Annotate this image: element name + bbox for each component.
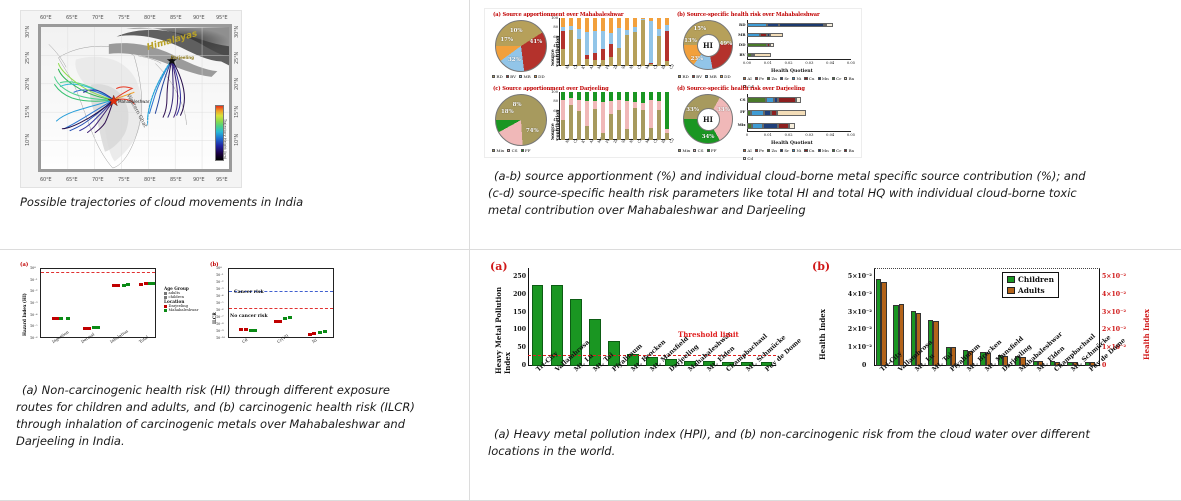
stack-segment <box>633 108 638 140</box>
map-plot-frame: Himalayas Darjeeling Mahabaleshwar Weste… <box>38 24 232 172</box>
stacked-column <box>561 18 566 66</box>
stack-segment <box>601 31 606 49</box>
stack-segment <box>617 18 622 28</box>
stack-segment <box>633 32 638 66</box>
legend-item: Al <box>743 148 752 153</box>
y-tick: 10⁻⁵ <box>30 324 37 328</box>
lon-tick: 60°E <box>40 15 51 21</box>
y-tick: 10⁻⁸ <box>216 322 223 326</box>
pie-slice-label: 18% <box>501 109 514 115</box>
y-tick: 10⁰ <box>30 266 36 270</box>
lon-tick: 65°E <box>66 15 77 21</box>
hpi-figure: (a) Heavy Metal Pollution Index 05010015… <box>482 258 1172 418</box>
stacked-column <box>593 18 598 66</box>
caption-scatter-1: (a) Non-carcinogenic health risk (HI) th… <box>16 382 449 399</box>
stack-segment <box>609 101 614 114</box>
stack-segment <box>609 57 614 66</box>
stack-segment <box>657 18 662 29</box>
stack-segment <box>609 114 614 140</box>
stack-segment <box>633 102 638 109</box>
legend-label: Ni <box>796 148 801 153</box>
scatter-b-plot <box>228 268 334 338</box>
legend-label: BV <box>510 74 516 79</box>
caption-scatter-2: routes for children and adults, and (b) … <box>16 399 449 416</box>
legend-item: CS <box>693 148 703 153</box>
legend-swatch <box>844 77 847 80</box>
y-tick: 80 <box>553 25 558 29</box>
x-tick: 0 <box>746 133 748 137</box>
lon-tick: 90°E <box>193 15 204 21</box>
legend-swatch <box>1007 276 1015 283</box>
stack-segment <box>625 101 630 130</box>
bar-category-label: FF <box>740 109 745 114</box>
legend-swatch <box>164 305 167 308</box>
panel-b-title: (b) Source-specific health risk over Mah… <box>677 12 820 18</box>
lat-tick: 30°N <box>234 26 240 38</box>
hpi-a-ylabel: Heavy Metal Pollution Index <box>494 266 512 374</box>
stack-segment <box>657 92 662 101</box>
stack-segment <box>577 100 582 111</box>
caption-source-apportionment-1: (a-b) source apportionment (%) and indiv… <box>488 168 1159 185</box>
lat-tick: 15°N <box>25 106 31 118</box>
legend-item: RD <box>492 74 503 79</box>
legend-swatch <box>755 149 758 152</box>
stack-segment <box>609 33 614 44</box>
stacked-column <box>601 92 606 140</box>
y-tick: 0 <box>506 362 526 369</box>
legend-swatch <box>743 77 746 80</box>
legend-item: Mix <box>492 148 504 153</box>
legend-label: CS <box>698 148 704 153</box>
y-tick: 250 <box>506 273 526 280</box>
y-tick: 150 <box>506 309 526 316</box>
y-tick: 100 <box>551 90 558 94</box>
y-tick: 50 <box>506 344 526 351</box>
legend-label: CS <box>512 148 518 153</box>
data-point <box>96 326 100 329</box>
legend-swatch <box>692 75 695 78</box>
stack-segment <box>617 92 622 100</box>
stack-segment <box>601 102 606 134</box>
stack-segment <box>569 105 574 140</box>
legend-label: MR <box>523 74 530 79</box>
stacked-column <box>625 92 630 140</box>
x-tick: 0.04 <box>826 61 834 65</box>
legend-item: BV <box>506 74 516 79</box>
legend-label: Al <box>747 148 751 153</box>
legend-label: DD <box>724 74 731 79</box>
legend-item: FF <box>521 148 531 153</box>
health-quotient-bar <box>747 110 806 116</box>
y-tick: 0 <box>556 64 558 68</box>
legend-label: Cr <box>836 76 841 81</box>
stack-segment <box>593 18 598 30</box>
bar-segment <box>764 110 771 116</box>
panel-d-xlabel: Health Quotient <box>771 141 813 146</box>
legend-item: Children <box>1007 275 1054 284</box>
legend-item: Zn <box>767 148 777 153</box>
legend-item: Cr <box>832 76 841 81</box>
y-tick: 40 <box>553 44 558 48</box>
stacked-column <box>633 92 638 140</box>
caption-source-apportionment-2: (c-d) source-specific health risk parame… <box>488 185 1159 202</box>
legend-label: RD <box>682 74 688 79</box>
legend-swatch <box>1007 287 1015 294</box>
threshold-line <box>41 272 155 273</box>
stacked-column <box>649 92 654 140</box>
stack-segment <box>577 18 582 29</box>
legend-item: Sr <box>780 148 789 153</box>
y-tick: 60 <box>553 35 558 39</box>
stack-segment <box>569 98 574 106</box>
figure-cell-trajectory-map: Himalayas Darjeeling Mahabaleshwar Weste… <box>0 0 470 250</box>
x-tick: 0.02 <box>785 133 793 137</box>
data-point <box>116 284 120 287</box>
stacked-column <box>625 18 630 66</box>
legend-item: RD <box>678 74 689 79</box>
legend-label: Zn <box>771 76 776 81</box>
lat-tick: 30°N <box>25 26 31 38</box>
legend-panel-b: RDBVMRDD <box>678 74 738 79</box>
stack-segment <box>617 100 622 111</box>
legend-label: MR <box>709 74 716 79</box>
stack-segment <box>665 133 670 140</box>
pie-slice-label: 17% <box>500 37 513 43</box>
legend-label: Ni <box>796 76 801 81</box>
y-tick-right: 4×10⁻² <box>1102 291 1126 298</box>
legend-item: Cu <box>804 76 814 81</box>
panel-a: (a) Source apportionment over Mahabalesh… <box>489 12 675 84</box>
legend-swatch <box>519 75 522 78</box>
legend-swatch <box>780 149 783 152</box>
legend-label: BV <box>696 74 702 79</box>
lat-tick: 25°N <box>234 52 240 64</box>
y-tick: 100 <box>551 16 558 20</box>
stacked-column <box>649 18 654 66</box>
lon-tick: 60°E <box>40 177 51 183</box>
legend-item: Mahabaleshwar <box>164 308 208 312</box>
hpi-b-ylabel: Health Index <box>818 276 827 360</box>
data-point <box>59 317 63 320</box>
legend-swatch <box>678 149 681 152</box>
legend-swatch <box>521 149 524 152</box>
stacked-column <box>657 18 662 66</box>
figure-grid: Himalayas Darjeeling Mahabaleshwar Weste… <box>0 0 1181 501</box>
stack-segment <box>609 92 614 101</box>
legend-label: FF <box>711 148 717 153</box>
y-tick: 20 <box>553 54 558 58</box>
legend-label: Fe <box>759 148 764 153</box>
data-point <box>278 320 282 323</box>
legend-label: Cr <box>836 148 841 153</box>
legend-panel-a: RDBVMRDD <box>492 74 554 79</box>
data-point <box>112 284 116 287</box>
legend-swatch <box>818 77 821 80</box>
bar-segment <box>826 23 833 28</box>
stack-segment <box>665 61 670 66</box>
legend-swatch <box>804 149 807 152</box>
x-tick: 0.01 <box>764 61 772 65</box>
legend-swatch <box>844 149 847 152</box>
trajectory-map-figure: Himalayas Darjeeling Mahabaleshwar Weste… <box>20 10 242 188</box>
legend-label: Mix <box>682 148 690 153</box>
legend-label: Cu <box>809 76 815 81</box>
source-apportionment-figure: (a) Source apportionment over Mahabalesh… <box>484 8 862 158</box>
figure-cell-health-risk-scatter: (a) Hazard Index (HI) 10⁻⁶10⁻⁵10⁻⁴10⁻³10… <box>0 250 470 501</box>
bar-segment <box>760 33 767 38</box>
legend-label: Mix <box>496 148 504 153</box>
y-tick: 10⁻⁴ <box>216 294 223 298</box>
bar-segment <box>766 97 774 103</box>
legend-swatch <box>832 77 835 80</box>
stack-segment <box>617 28 622 48</box>
legend-label: Zn <box>771 148 776 153</box>
hpi-a-threshold-label: Threshold limit <box>678 330 739 339</box>
stacked-column <box>577 18 582 66</box>
legend-swatch <box>767 149 770 152</box>
bar-segment <box>796 97 801 103</box>
legend-item: DD <box>720 74 731 79</box>
stack-segment <box>665 18 670 25</box>
stack-segment <box>617 110 622 140</box>
legend-item: Cd <box>743 156 753 161</box>
stack-segment <box>641 92 646 103</box>
caption-source-apportionment-3: metal contribution over Mahabaleshwar an… <box>488 202 1159 219</box>
stack-segment <box>593 101 598 110</box>
pie-slice-label: 10% <box>510 28 523 34</box>
y-tick: 10⁻¹⁰ <box>216 336 225 340</box>
legend-label: FF <box>525 148 531 153</box>
legend-item: Cr <box>832 148 841 153</box>
pie-slice-label: 8% <box>513 102 522 108</box>
health-quotient-bar <box>747 43 774 48</box>
hpi-b-index: (b) <box>812 260 830 273</box>
stack-segment <box>585 32 590 55</box>
stacked-column <box>665 18 670 66</box>
health-quotient-bar <box>747 53 771 58</box>
legend-swatch <box>707 149 710 152</box>
stack-segment <box>593 60 598 66</box>
scatter-a-legend: Age GroupadultschildrenLocationDarjeelin… <box>164 286 208 312</box>
y-tick: 10⁻² <box>30 289 37 293</box>
pie-slice-label: 13% <box>684 38 697 44</box>
legend-swatch <box>164 309 167 312</box>
legend-swatch <box>804 77 807 80</box>
data-point <box>66 317 70 320</box>
stack-segment <box>609 44 614 57</box>
stack-segment <box>561 100 566 120</box>
scatter-b-note-nocancer: No cancer risk <box>230 314 268 319</box>
stack-segment <box>593 31 598 53</box>
panel-c-pie: 74%18%8% <box>495 94 547 146</box>
y-tick: 5×10⁻² <box>840 273 872 280</box>
data-point <box>283 317 287 320</box>
donut-center-label: HI <box>697 108 720 131</box>
stacked-column <box>601 18 606 66</box>
bar-segment <box>752 123 763 129</box>
stack-segment <box>585 59 590 66</box>
hbars-darjeeling: MixFFCS00.010.020.030.040.05 <box>747 94 851 132</box>
scatter-a-plot <box>40 268 156 338</box>
stack-segment <box>601 60 606 66</box>
y-tick: 10⁻⁵ <box>216 301 223 305</box>
legend-item: CS <box>507 148 517 153</box>
legend-label: RD <box>496 74 502 79</box>
legend-label: Mn <box>822 148 829 153</box>
bar-segment <box>770 43 774 48</box>
lat-tick: 20°N <box>234 78 240 90</box>
stacked-columns-mahabaleshwar: 020406080100NaCaKAlMgFeZnSrNiCuMnCrBaCd <box>559 18 671 66</box>
map-annotation-darjeeling: Darjeeling <box>171 55 194 60</box>
lon-tick: 95°E <box>216 15 227 21</box>
legend-label: Fe <box>759 76 764 81</box>
bar-segment <box>751 110 764 116</box>
legend-swatch <box>534 75 537 78</box>
lat-tick: 25°N <box>25 52 31 64</box>
data-point <box>139 283 143 286</box>
health-risk-scatter-figure: (a) Hazard Index (HI) 10⁻⁶10⁻⁵10⁻⁴10⁻³10… <box>14 260 354 360</box>
lon-tick: 70°E <box>92 15 103 21</box>
stack-segment <box>601 18 606 30</box>
figure-cell-hpi: (a) Heavy Metal Pollution Index 05010015… <box>470 250 1181 501</box>
legend-label: Sr <box>784 76 789 81</box>
stack-segment <box>649 100 654 128</box>
x-tick: 0.05 <box>847 61 855 65</box>
stack-segment <box>585 18 590 32</box>
lat-tick: 15°N <box>234 106 240 118</box>
bar-segment <box>767 23 780 28</box>
y-tick: 60 <box>553 109 558 113</box>
legend-item: Zn <box>767 76 777 81</box>
y-tick: 1×10⁻² <box>840 344 872 351</box>
lon-tick: 80°E <box>144 177 155 183</box>
y-tick: 10⁻⁹ <box>216 329 223 333</box>
bar-segment <box>754 53 771 58</box>
stack-segment <box>561 18 566 27</box>
bar-segment <box>747 23 767 28</box>
health-index-bar <box>881 282 886 366</box>
stack-segment <box>593 53 598 61</box>
data-point <box>253 329 257 332</box>
y-tick: 2×10⁻² <box>840 326 872 333</box>
y-tick: 10⁻¹ <box>30 278 37 282</box>
panel-a-pie: 41%32%17%10% <box>495 20 547 72</box>
bar-segment <box>747 43 767 48</box>
bar-segment <box>763 123 778 129</box>
stack-segment <box>601 92 606 102</box>
bar-segment <box>777 110 806 116</box>
y-tick: 200 <box>506 291 526 298</box>
top-gridline <box>874 268 1100 269</box>
health-quotient-bar <box>747 97 801 103</box>
legend-item: Fe <box>755 76 764 81</box>
figure-cell-source-apportionment: (a) Source apportionment over Mahabalesh… <box>470 0 1181 250</box>
data-point <box>288 316 292 319</box>
y-tick: 100 <box>506 326 526 333</box>
stacked-column <box>593 92 598 140</box>
stacked-column <box>609 92 614 140</box>
y-tick: 10⁻⁶ <box>216 308 223 312</box>
x-tick-label: Cd <box>669 137 675 143</box>
legend-label: Ba <box>849 76 854 81</box>
legend-panel-d: MixCSFF <box>678 148 738 153</box>
panel-b: (b) Source-specific health risk over Mah… <box>675 12 861 84</box>
legend-label: Children <box>1018 275 1054 284</box>
stacked-column <box>585 92 590 140</box>
stacked-column <box>561 92 566 140</box>
lon-tick: 65°E <box>66 177 77 183</box>
legend-swatch <box>792 77 795 80</box>
lon-tick: 75°E <box>118 15 129 21</box>
x-tick: 0.03 <box>805 61 813 65</box>
bar-segment <box>778 97 797 103</box>
metal-legend-panel-d: AlFeZnSrNiCuMnCrBaCd <box>743 148 855 161</box>
legend-swatch <box>164 292 167 295</box>
stack-segment <box>625 35 630 66</box>
legend-swatch <box>818 149 821 152</box>
stack-segment <box>657 36 662 66</box>
stack-segment <box>577 39 582 66</box>
y-tick: 0 <box>556 138 558 142</box>
data-point <box>323 330 327 333</box>
stack-segment <box>577 92 582 100</box>
y-tick: 10⁻⁶ <box>30 336 37 340</box>
legend-item: Ba <box>844 76 854 81</box>
lon-tick: 75°E <box>118 177 129 183</box>
x-tick: 0.03 <box>805 133 813 137</box>
legend-swatch <box>780 77 783 80</box>
data-point <box>249 329 253 332</box>
y-tick: 80 <box>553 99 558 103</box>
legend-swatch <box>492 149 495 152</box>
legend-item: Al <box>743 76 752 81</box>
stacked-column <box>609 18 614 66</box>
legend-label: Mn <box>822 76 829 81</box>
scatter-b-note-cancer: Cancer risk <box>234 290 264 295</box>
pie-slice-label: 33% <box>717 107 730 113</box>
lon-tick: 85°E <box>170 177 181 183</box>
panel-d: (d) Source-specific health risk over Dar… <box>675 86 861 157</box>
x-tick: 0.02 <box>785 61 793 65</box>
stack-segment <box>649 128 654 140</box>
legend-swatch <box>767 77 770 80</box>
caption-scatter-3: through inhalation of carcinogenic metal… <box>16 416 449 433</box>
stacked-columns-darjeeling: 020406080100NaCaKAlMgFeZnSrNiCuMnCrBaCd <box>559 92 671 140</box>
x-tick: 0.01 <box>764 133 772 137</box>
legend-item: Cu <box>804 148 814 153</box>
stack-segment <box>577 29 582 40</box>
y-tick: 10⁻³ <box>216 287 223 291</box>
legend-swatch <box>507 149 510 152</box>
stack-segment <box>585 101 590 126</box>
no-cancer-risk-line <box>229 308 333 309</box>
legend-item: Fe <box>755 148 764 153</box>
stack-segment <box>649 92 654 100</box>
y-tick: 10⁻¹ <box>216 273 223 277</box>
stack-segment <box>625 92 630 101</box>
data-point <box>126 283 130 286</box>
legend-label: Sr <box>784 148 789 153</box>
lat-tick: 10°N <box>234 134 240 146</box>
caption-hpi-2: locations in the world. <box>488 443 1161 460</box>
data-point <box>151 282 155 285</box>
legend-swatch <box>743 157 746 160</box>
stacked-column <box>641 92 646 140</box>
panel-d-donut: 33%34%33%HI <box>683 94 733 144</box>
stacked-column <box>569 92 574 140</box>
lon-tick: 90°E <box>193 177 204 183</box>
legend-swatch <box>705 75 708 78</box>
